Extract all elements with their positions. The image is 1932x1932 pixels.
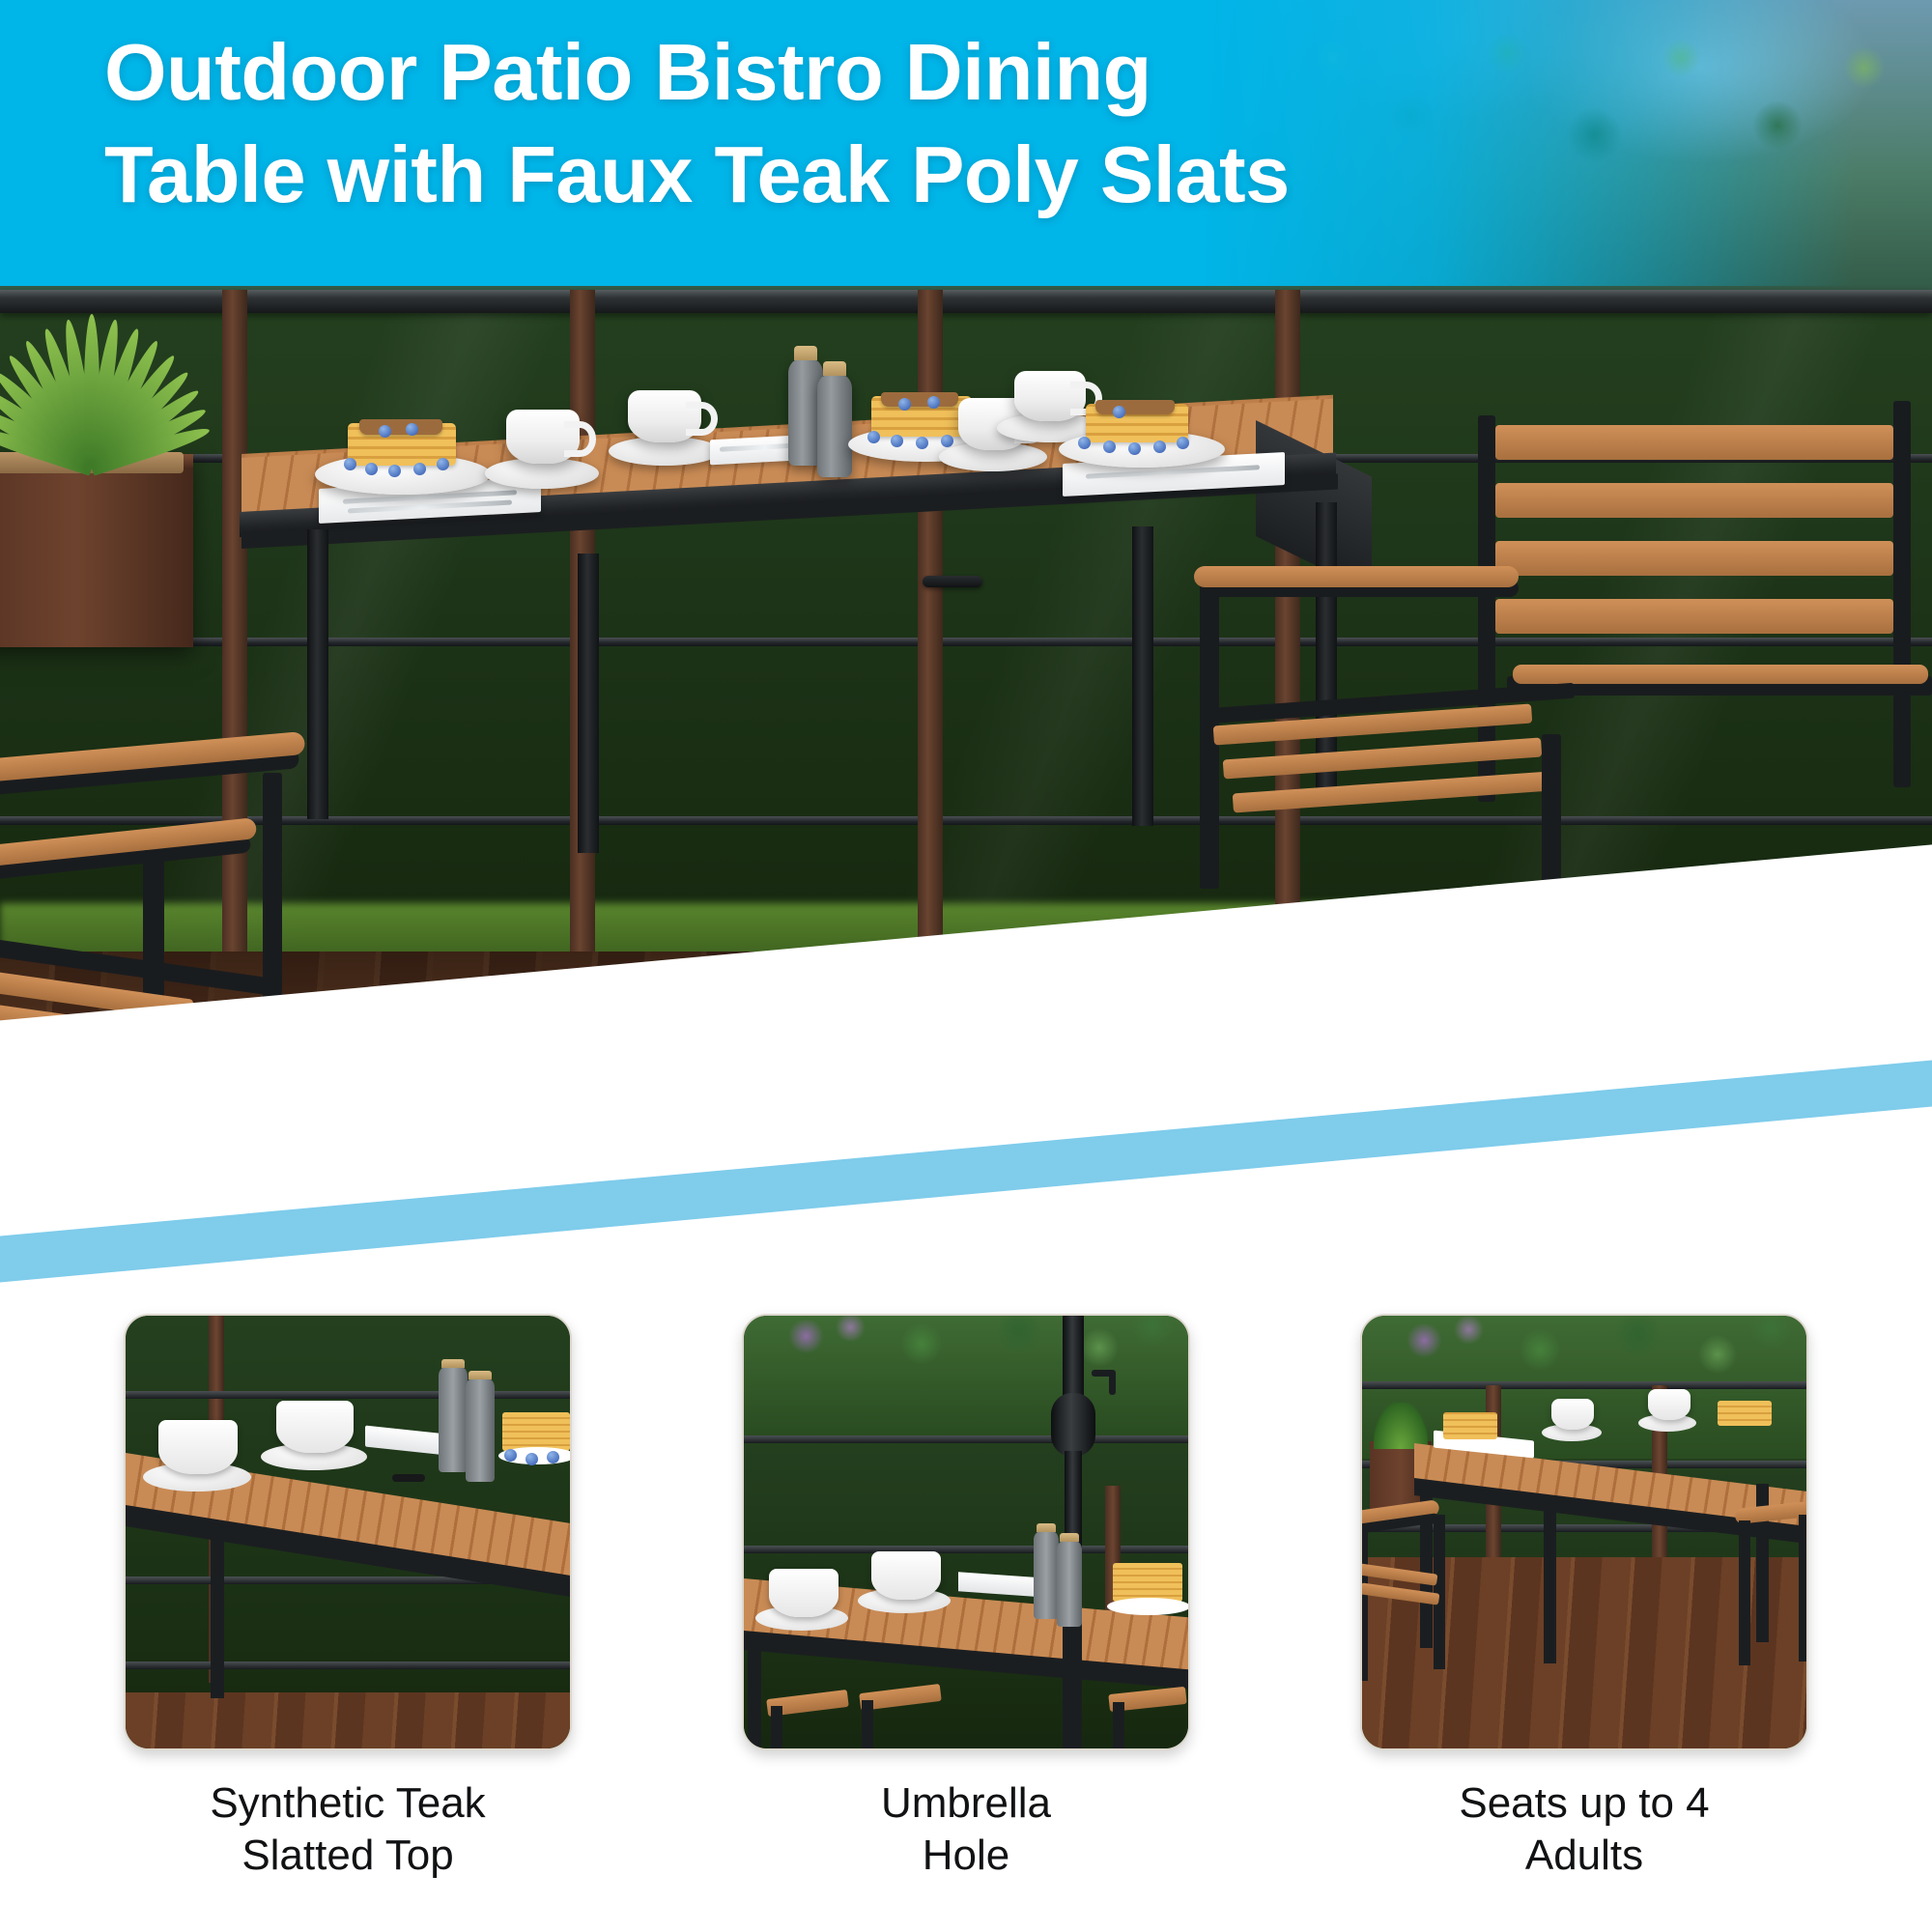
railing-cable	[0, 638, 1932, 646]
thumb-salt-grinder	[1057, 1540, 1082, 1627]
feature-synthetic-teak-slatted-top: Synthetic TeakSlatted Top	[124, 1314, 572, 1932]
blueberry	[898, 398, 911, 411]
blueberry	[1177, 437, 1189, 449]
thumb-cup	[1648, 1389, 1690, 1420]
syrup-topping	[359, 419, 442, 435]
coffee-cup	[506, 410, 580, 464]
blueberry	[365, 463, 378, 475]
thumb-chair-leg	[1434, 1515, 1445, 1669]
railing-post	[1275, 290, 1300, 956]
blueberry	[1128, 442, 1141, 455]
chair-back-slat	[1495, 541, 1893, 576]
thumb-blueberry	[547, 1451, 559, 1463]
railing-top-rail	[0, 290, 1932, 313]
table-leg	[578, 554, 599, 853]
table-leg	[1132, 526, 1153, 826]
thumb-salt-grinder	[466, 1378, 495, 1482]
caption-line-1: Umbrella	[881, 1779, 1051, 1827]
thumb-railing-cable	[744, 1546, 1188, 1553]
blueberry	[413, 463, 426, 475]
chair-armrest-teak	[1513, 665, 1928, 684]
thumb-plant	[1374, 1403, 1428, 1449]
thumb-umbrella-cap	[392, 1474, 425, 1482]
caption-line-1: Synthetic Teak	[210, 1779, 485, 1827]
blueberry	[388, 465, 401, 477]
thumb-umbrella-pole	[1063, 1316, 1084, 1399]
thumb-railing-top	[744, 1435, 1188, 1443]
feature-thumbnail-umbrella-hole[interactable]	[742, 1314, 1190, 1750]
blueberry	[437, 458, 449, 470]
thumb-blueberry	[526, 1453, 538, 1465]
feature-caption-umbrella-hole: UmbrellaHole	[881, 1777, 1051, 1881]
thumb-table-leg	[748, 1648, 761, 1750]
thumb-cup	[871, 1551, 941, 1600]
caption-line-2: Hole	[923, 1832, 1010, 1879]
blueberry	[1113, 406, 1125, 418]
caption-line-1: Seats up to 4	[1459, 1779, 1709, 1827]
thumb-table-leg	[1544, 1509, 1556, 1663]
umbrella-hole-cap	[923, 576, 982, 587]
thumb-crank-arm	[1109, 1370, 1116, 1395]
chair-back-slat	[1495, 483, 1893, 518]
thumb-deck	[126, 1692, 570, 1750]
feature-caption-slatted-top: Synthetic TeakSlatted Top	[210, 1777, 485, 1881]
caption-line-2: Slatted Top	[241, 1832, 453, 1879]
thumb-plate	[1107, 1598, 1190, 1615]
syrup-topping	[1095, 400, 1175, 414]
thumb-cup	[769, 1569, 838, 1617]
thumb-cup	[1551, 1399, 1594, 1430]
blueberry	[867, 431, 880, 443]
page-title-line-2: Table with Faux Teak Poly Slats	[104, 129, 1290, 219]
thumb-waffle	[1443, 1412, 1497, 1439]
chair-back-slat	[1495, 599, 1893, 634]
thumb-railing-cable	[126, 1391, 570, 1399]
feature-umbrella-hole: UmbrellaHole	[742, 1314, 1190, 1932]
feature-seats-up-to-4-adults: Seats up to 4Adults	[1360, 1314, 1808, 1932]
coffee-cup	[1014, 371, 1086, 421]
thumb-chair-leg	[771, 1706, 782, 1750]
blueberry	[891, 435, 903, 447]
feature-highlights-row: Synthetic TeakSlatted Top	[0, 1314, 1932, 1932]
railing-cable	[0, 816, 1932, 825]
railing-post	[918, 290, 943, 956]
thumb-waffle	[502, 1412, 570, 1451]
thumb-umbrella-crank-housing	[1051, 1393, 1095, 1457]
chair-back-slat	[1495, 425, 1893, 460]
blueberry	[916, 437, 928, 449]
blueberry	[379, 425, 391, 438]
thumb-chair-leg	[1739, 1520, 1750, 1665]
thumb-chair-leg	[1360, 1528, 1368, 1681]
blueberry	[1103, 440, 1116, 453]
feature-caption-seating: Seats up to 4Adults	[1459, 1777, 1709, 1881]
chair-back-post	[1893, 401, 1911, 787]
blueberry	[406, 423, 418, 436]
thumb-pepper-grinder	[439, 1366, 468, 1472]
thumb-table-leg	[211, 1524, 224, 1698]
agave-plant	[0, 290, 193, 469]
thumb-chair-leg	[1799, 1515, 1808, 1662]
thumb-waffle	[1718, 1401, 1772, 1426]
title-banner: Outdoor Patio Bistro DiningTable with Fa…	[0, 0, 1932, 286]
page-title-line-1: Outdoor Patio Bistro Dining	[104, 27, 1151, 117]
thumb-chair-leg	[862, 1700, 873, 1750]
salt-grinder	[817, 373, 852, 477]
blueberry	[1078, 437, 1091, 449]
blueberry	[344, 458, 356, 470]
caption-line-2: Adults	[1525, 1832, 1643, 1879]
blueberry	[941, 435, 953, 447]
syrup-topping	[881, 392, 958, 407]
thumb-railing-top	[1362, 1381, 1806, 1389]
feature-thumbnail-slatted-top[interactable]	[124, 1314, 572, 1750]
blueberry	[927, 396, 940, 409]
feature-thumbnail-seating[interactable]	[1360, 1314, 1808, 1750]
chair-armrest-teak	[1194, 566, 1519, 587]
blueberry	[1153, 440, 1166, 453]
table-leg	[307, 529, 328, 819]
thumb-pepper-grinder	[1034, 1530, 1059, 1619]
thumb-chair-leg	[1113, 1702, 1124, 1750]
railing-post	[222, 290, 247, 956]
planter-box	[0, 454, 193, 647]
page-title: Outdoor Patio Bistro DiningTable with Fa…	[104, 21, 1804, 226]
thumb-pole-base	[1063, 1605, 1082, 1750]
thumb-blueberry	[504, 1449, 517, 1462]
thumb-cup	[158, 1420, 238, 1474]
coffee-cup	[628, 390, 701, 442]
table-leg	[1316, 502, 1337, 792]
thumb-waffle	[1113, 1563, 1182, 1602]
thumb-foliage	[744, 1316, 1188, 1443]
thumb-railing-cable	[126, 1662, 570, 1669]
thumb-cup	[276, 1401, 354, 1453]
